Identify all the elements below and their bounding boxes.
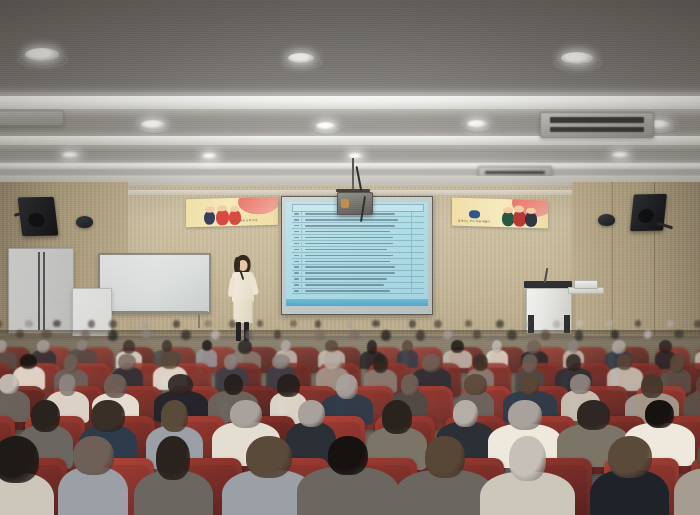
audience-member-head: [508, 400, 542, 430]
slide-row-checkbox-cell: [411, 217, 424, 222]
slide-row-number: [292, 284, 302, 287]
audience-member-head: [161, 400, 189, 432]
slide-row-number: [292, 266, 302, 269]
slide-row-checkbox-cell: [411, 289, 424, 294]
audience-member-head: [123, 340, 135, 354]
ac-cassette-right: [540, 112, 654, 138]
banner-right-caption: 함께하는 우리 마을 배움터: [458, 219, 490, 223]
audience-member-head: [611, 330, 619, 339]
wall-speaker-left: [18, 197, 59, 236]
audience-member-head: [608, 436, 652, 478]
audience-member-head: [238, 340, 252, 354]
slide-row-number: [292, 236, 302, 239]
audience-member-head: [298, 400, 325, 427]
whiteboard: [98, 253, 211, 314]
slide-row-checkbox-cell: [411, 211, 424, 216]
audience-member-head: [347, 320, 353, 328]
audience-member-head: [409, 320, 416, 328]
audience-member-head: [492, 340, 502, 353]
audience-member-head: [635, 320, 641, 327]
audience-member-head: [434, 320, 442, 328]
audience-member-head: [245, 330, 253, 340]
audience-member-head: [0, 436, 39, 483]
slide-row-text: [302, 219, 411, 221]
audience-member-head: [224, 374, 243, 395]
ceiling: [0, 0, 700, 200]
audience-member-head: [667, 320, 674, 328]
whiteboard-tray: [98, 311, 208, 314]
slide-row-number: [292, 248, 302, 251]
slide-row-checkbox-cell: [411, 247, 424, 252]
audience-member-head: [336, 374, 358, 399]
audience-member-head: [246, 436, 292, 478]
audience-member-head: [0, 320, 2, 328]
audience-member-head: [59, 374, 76, 396]
audience-member-head: [522, 354, 538, 373]
audience-member-head: [77, 340, 88, 351]
audience-member-head: [473, 354, 489, 371]
audience-member-head: [577, 400, 610, 430]
audience-member-head: [509, 436, 546, 481]
slide-row-checkbox-cell: [411, 223, 424, 228]
audience-member-head: [81, 330, 90, 339]
audience-member-head: [522, 320, 528, 328]
audience-member-head: [541, 330, 550, 340]
audience-member-head: [507, 330, 517, 340]
audience-member-head: [224, 354, 238, 370]
audience-member-head: [453, 400, 478, 427]
slide-row-checkbox-cell: [411, 241, 424, 246]
audience-member-head: [694, 320, 700, 328]
slide-row: [292, 289, 424, 295]
audience-member-head: [401, 374, 419, 396]
audience-member-head: [576, 320, 583, 328]
audience-member-head: [281, 340, 291, 352]
slide-row-text: [302, 272, 411, 274]
audience-member-head: [659, 340, 672, 353]
audience-member-head: [0, 374, 19, 394]
slide-row-number: [292, 218, 302, 221]
slide-row-number: [292, 254, 302, 257]
audience-member-head: [422, 354, 441, 372]
audience-member-head: [425, 436, 465, 478]
slide-row-text: [302, 237, 411, 239]
audience-member-head: [41, 330, 51, 338]
downlight-1: [25, 48, 59, 61]
banner-left-caption: 2024 행복 교육 안내: [232, 218, 258, 222]
slide-row-number: [292, 272, 302, 275]
audience-member-head: [64, 354, 78, 373]
audience-member-head: [257, 320, 263, 327]
downlight-4: [141, 120, 165, 129]
audience-member-head: [91, 400, 125, 432]
audience-member-head: [16, 330, 23, 338]
audience-member-head: [521, 374, 540, 395]
audience-member-head: [109, 320, 116, 328]
audience-member-head: [568, 340, 580, 353]
wall-banner-right: 함께하는 우리 마을 배움터: [452, 198, 548, 229]
downlight-10: [348, 153, 363, 159]
slide-row-checkbox-cell: [411, 283, 424, 288]
slide-row-checkbox-cell: [411, 265, 424, 270]
slide-row-checkbox-cell: [411, 277, 424, 282]
slide-row-number: [292, 260, 302, 263]
audience-member-head: [443, 330, 453, 340]
downlight-3: [561, 52, 593, 64]
audience-member-head: [381, 330, 391, 341]
audience-member-head: [373, 354, 388, 373]
slide-row-text: [302, 278, 411, 280]
audience-member-head: [181, 330, 192, 340]
audience-member-head: [162, 340, 172, 352]
slide-row-checkbox-cell: [411, 235, 424, 240]
audience-member-head: [204, 320, 212, 327]
auditorium-photo: 2024 행복 교육 안내 함께하는 우리 마을 배움터: [0, 0, 700, 515]
audience-member-head: [644, 330, 652, 339]
slide-row-checkbox-cell: [411, 259, 424, 264]
projector-pole: [352, 158, 354, 190]
audience-member-head: [272, 354, 290, 369]
slide-row-number: [292, 242, 302, 245]
audience-member-head: [382, 400, 411, 434]
slide-row-number: [292, 290, 302, 293]
audience: [0, 318, 700, 515]
audience-member-head: [416, 330, 425, 341]
audience-member-head: [465, 320, 473, 327]
slide-row-checkbox-cell: [411, 229, 424, 234]
audience-member-head: [527, 340, 541, 354]
audience-member-head: [325, 340, 338, 352]
slide-row-text: [302, 266, 411, 268]
slide-row-checkbox-cell: [411, 271, 424, 276]
audience-member-head: [156, 436, 189, 480]
audience-member-head: [606, 320, 614, 328]
audience-member-head: [464, 374, 488, 395]
audience-member-head: [118, 354, 136, 370]
audience-member-head: [566, 354, 581, 371]
slide-table: [292, 211, 424, 294]
audience-member-head: [570, 374, 591, 394]
slide-row-text: [302, 249, 411, 251]
audience-member-head: [496, 320, 504, 328]
audience-member-head: [324, 354, 342, 370]
audience-member-head: [553, 320, 560, 328]
audience-member-head: [168, 374, 193, 395]
audience-member-head: [645, 400, 674, 428]
slide-row-checkbox-cell: [411, 253, 424, 258]
audience-member-head: [230, 400, 262, 428]
audience-member-head: [141, 320, 149, 328]
audience-member-head: [617, 354, 632, 370]
audience-member-head: [277, 374, 299, 397]
downlight-6: [467, 120, 487, 128]
audience-member-head: [202, 340, 212, 351]
ceiling-duct-left: [0, 110, 64, 126]
audience-member-head: [674, 330, 684, 338]
audience-member-head: [142, 330, 152, 339]
slide-footer-bar: [286, 299, 428, 306]
slide-row-text: [302, 255, 411, 257]
audience-member-head: [315, 320, 322, 328]
slide-row-number: [292, 212, 302, 215]
slide-row-number: [292, 224, 302, 227]
downlight-2: [288, 53, 314, 63]
audience-member-head: [173, 320, 181, 328]
audience-member-head: [328, 436, 368, 475]
audience-member-head: [161, 354, 179, 369]
audience-member-head: [372, 320, 380, 327]
audience-member-head: [73, 436, 114, 475]
slide-row-text: [302, 243, 411, 245]
downlight-9: [202, 153, 217, 159]
audience-member-head: [349, 330, 359, 339]
ceiling-projector: [337, 192, 373, 215]
audience-member-head: [473, 330, 481, 339]
downlight-5: [316, 122, 336, 130]
audience-member-head: [315, 330, 325, 340]
slide-row-number: [292, 278, 302, 281]
audience-member-head: [229, 320, 236, 328]
audience-member-head: [274, 330, 282, 339]
audience-member-head: [104, 374, 127, 398]
audience-member-head: [31, 400, 60, 432]
audience-member-head: [402, 340, 413, 353]
audience-member-head: [290, 320, 297, 327]
slide-row-text: [302, 261, 411, 263]
audience-member-head: [612, 340, 626, 354]
audience-member-head: [37, 340, 50, 353]
audience-member-head: [53, 320, 61, 327]
audience-member-head: [641, 374, 663, 398]
audience-member-head: [451, 340, 463, 353]
podium-top: [524, 281, 572, 288]
audience-member-head: [108, 330, 117, 341]
downlight-8: [62, 152, 79, 158]
audience-member-head: [88, 320, 95, 328]
slide-row-number: [292, 230, 302, 233]
slide-row-text: [302, 284, 411, 286]
slide-row-text: [302, 290, 411, 292]
audience-member-head: [211, 330, 219, 340]
laptop: [574, 280, 598, 289]
audience-member-head: [670, 354, 685, 373]
cctv-camera-left: [76, 216, 93, 228]
wall-banner-left: 2024 행복 교육 안내: [186, 197, 278, 228]
slide: [286, 202, 428, 306]
audience-member-head: [25, 320, 33, 327]
cctv-camera-right: [598, 214, 615, 226]
audience-member-head: [575, 330, 583, 341]
audience-member-head: [367, 340, 377, 354]
slide-row-text: [302, 225, 411, 227]
downlight-11: [612, 152, 629, 158]
slide-row-text: [302, 231, 411, 233]
